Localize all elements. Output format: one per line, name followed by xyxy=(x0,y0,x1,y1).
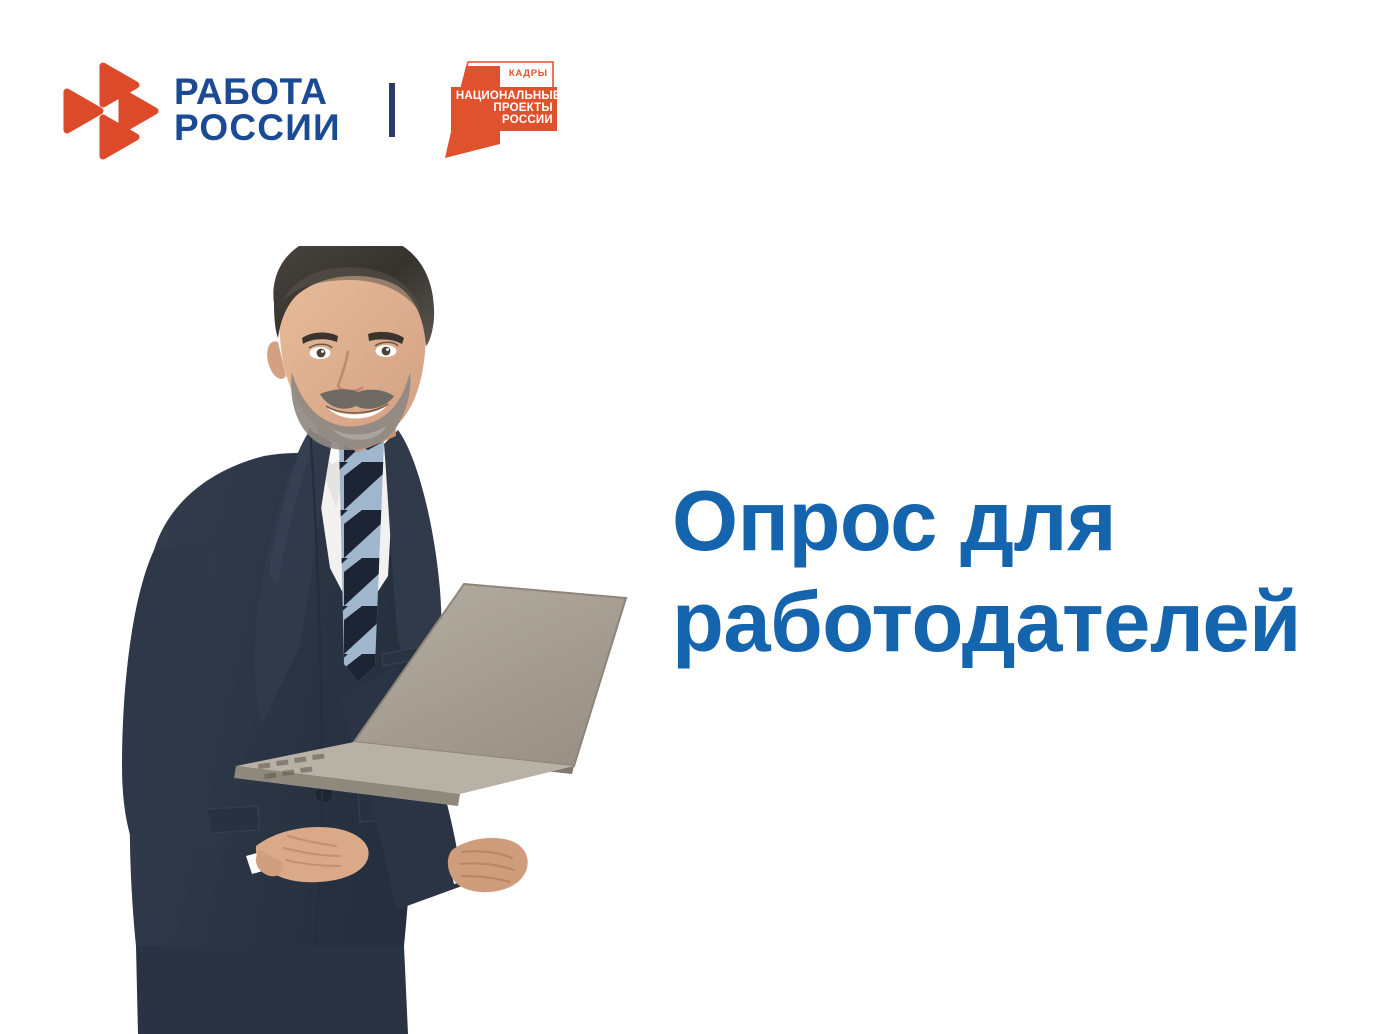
national-projects-line1: НАЦИОНАЛЬНЫЕ xyxy=(456,90,553,102)
logo-divider xyxy=(389,83,395,137)
national-projects-nameplate: НАЦИОНАЛЬНЫЕ ПРОЕКТЫ РОССИИ xyxy=(451,87,557,131)
hero-photo-businessman-with-laptop xyxy=(96,246,666,1034)
slide-root: РАБОТА РОССИИ КАДРЫ НАЦИОНАЛЬНЫЕ ПРОЕКТЫ… xyxy=(0,0,1392,1034)
page-title: Опрос для работодателей xyxy=(672,471,1342,673)
national-projects-line2: ПРОЕКТЫ xyxy=(456,102,553,114)
page-title-line2: работодателей xyxy=(672,572,1342,673)
rabota-rossii-line2: РОССИИ xyxy=(174,110,341,146)
logo-lockup: РАБОТА РОССИИ КАДРЫ НАЦИОНАЛЬНЫЕ ПРОЕКТЫ… xyxy=(62,55,557,165)
rabota-rossii-line1: РАБОТА xyxy=(174,74,341,110)
rabota-rossii-logo-icon xyxy=(62,60,162,160)
rabota-rossii-wordmark: РАБОТА РОССИИ xyxy=(174,74,341,147)
national-projects-line3: РОССИИ xyxy=(456,114,553,126)
national-projects-logo-icon: КАДРЫ НАЦИОНАЛЬНЫЕ ПРОЕКТЫ РОССИИ xyxy=(433,58,557,162)
page-title-line1: Опрос для xyxy=(672,471,1342,572)
national-projects-kadry-label: КАДРЫ xyxy=(509,69,548,79)
